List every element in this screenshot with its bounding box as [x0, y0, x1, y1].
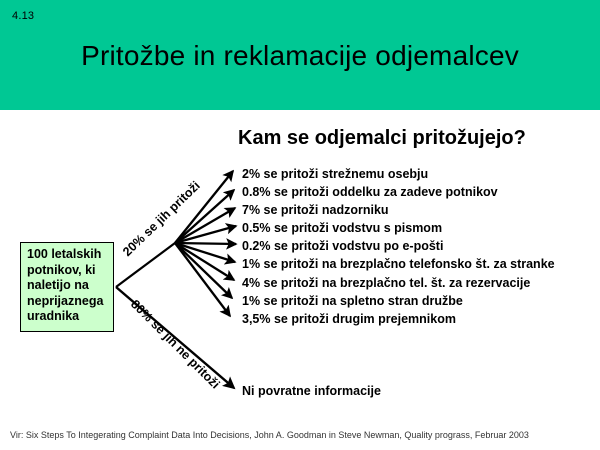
list-item: 0.2% se pritoži vodstvu po e-pošti	[242, 237, 592, 255]
list-item: 0.8% se pritoži oddelku za zadeve potnik…	[242, 183, 592, 201]
list-item: 7% se pritoži nadzorniku	[242, 201, 592, 219]
slide-canvas: 4.13 Pritožbe in reklamacije odjemalcev …	[0, 0, 600, 450]
complaint-destination-list: 2% se pritoži strežnemu osebju 0.8% se p…	[242, 165, 592, 328]
list-item: 0.5% se pritoži vodstvu s pismom	[242, 219, 592, 237]
list-item: 1% se pritoži na spletno stran družbe	[242, 292, 592, 310]
list-item: 2% se pritoži strežnemu osebju	[242, 165, 592, 183]
list-item: 4% se pritoži na brezplačno tel. št. za …	[242, 274, 592, 292]
list-item: 1% se pritoži na brezplačno telefonsko š…	[242, 255, 592, 273]
footer-source-citation: Vir: Six Steps To Integerating Complaint…	[10, 430, 529, 440]
list-item: 3,5% se pritoži drugim prejemnikom	[242, 310, 592, 328]
no-feedback-label: Ni povratne informacije	[242, 384, 381, 398]
